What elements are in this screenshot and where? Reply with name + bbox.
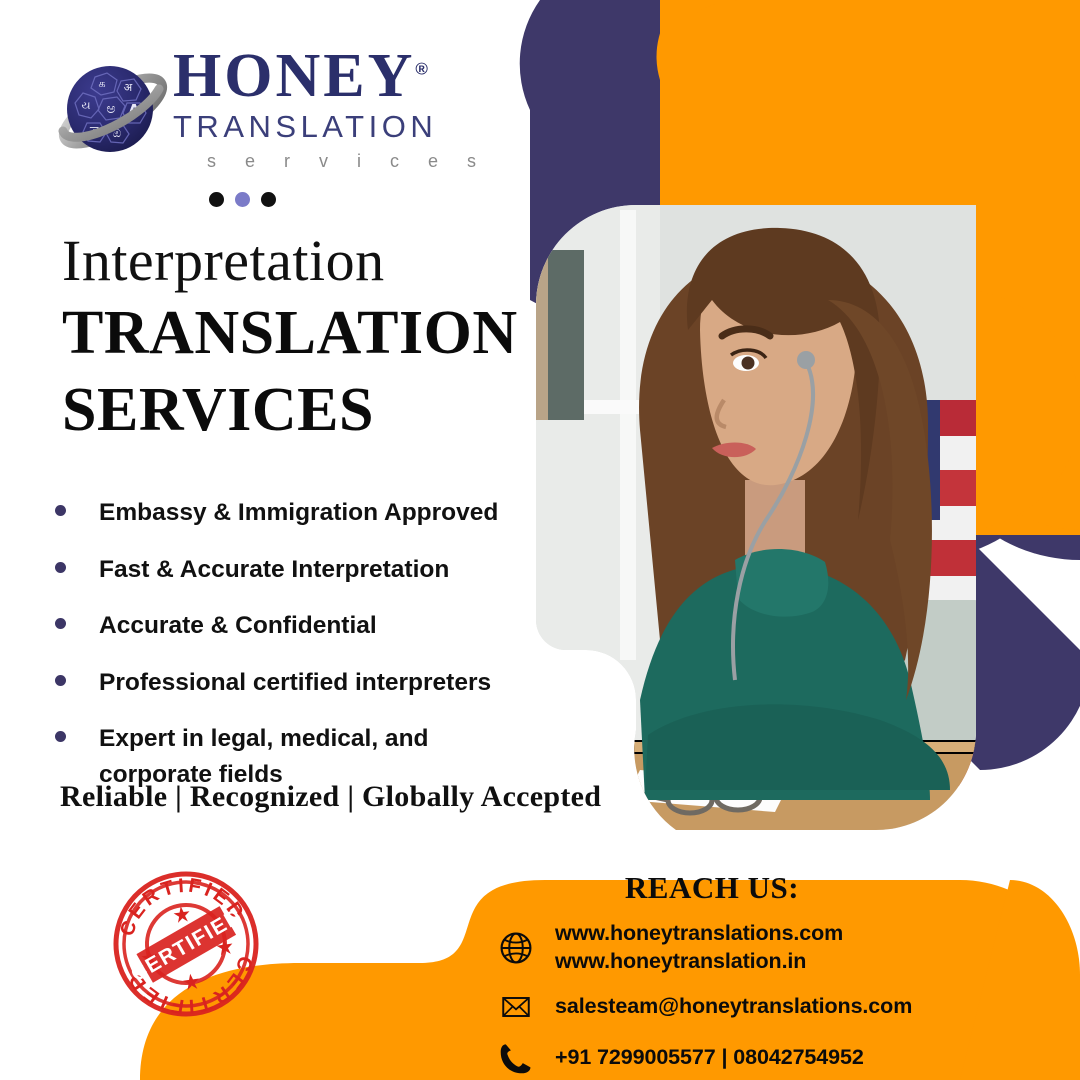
website-1: www.honeytranslations.com xyxy=(555,921,843,945)
feature-label: Fast & Accurate Interpretation xyxy=(99,552,449,588)
svg-text:ય: ય xyxy=(81,99,90,112)
contact-row-phone[interactable]: +91 7299005577 | 08042754952 xyxy=(470,1037,1070,1079)
logo-primary-name: HONEY® xyxy=(173,45,473,107)
orange-top-shape xyxy=(657,0,1080,530)
phone-icon xyxy=(495,1037,537,1079)
list-item: Professional certified interpreters xyxy=(55,665,535,701)
list-item: Embassy & Immigration Approved xyxy=(55,495,535,531)
woman-with-headset-at-desk-photo xyxy=(500,180,1020,860)
email-label: salesteam@honeytranslations.com xyxy=(555,993,912,1021)
dot-1 xyxy=(209,192,224,207)
svg-text:अ: अ xyxy=(124,81,133,94)
bullet-dot-icon xyxy=(55,505,66,516)
website-2: www.honeytranslation.in xyxy=(555,949,806,973)
feature-label: Accurate & Confidential xyxy=(99,608,377,644)
list-item: Accurate & Confidential xyxy=(55,608,535,644)
globe-languages-icon: க अ ય ಅ A ア ඔ xyxy=(55,53,171,169)
tagline: Reliable | Recognized | Globally Accepte… xyxy=(60,780,601,814)
bullet-dot-icon xyxy=(55,618,66,629)
certified-stamp-icon: CERTIFIED CERTIFIED CERTIFIED xyxy=(106,868,266,1020)
list-item: Fast & Accurate Interpretation xyxy=(55,552,535,588)
bullet-dot-icon xyxy=(55,562,66,573)
purple-ribbon-shape xyxy=(520,0,1080,575)
phone-label: +91 7299005577 | 08042754952 xyxy=(555,1044,864,1072)
headline-main-line-1: TRANSLATION xyxy=(62,300,532,367)
headline-main-line-2: SERVICES xyxy=(62,377,532,444)
contact-row-email[interactable]: salesteam@honeytranslations.com xyxy=(470,986,1070,1028)
decorative-dots xyxy=(209,192,276,207)
contact-section-title: REACH US: xyxy=(482,870,942,906)
contact-section: REACH US: www.honeytranslations.com www.… xyxy=(470,870,1070,1079)
svg-text:ಅ: ಅ xyxy=(106,101,115,117)
feature-list: Embassy & Immigration Approved Fast & Ac… xyxy=(55,495,535,813)
bullet-dot-icon xyxy=(55,731,66,742)
logo-secondary-name: TRANSLATION xyxy=(173,109,473,145)
page-title: Interpretation TRANSLATION SERVICES xyxy=(62,232,532,444)
dot-3 xyxy=(261,192,276,207)
headline-script-line: Interpretation xyxy=(62,232,532,290)
logo-tertiary-name: s e r v i c e s xyxy=(173,151,473,172)
contact-row-website[interactable]: www.honeytranslations.com www.honeytrans… xyxy=(470,920,1070,975)
website-labels: www.honeytranslations.com www.honeytrans… xyxy=(555,920,843,975)
dot-2 xyxy=(235,192,250,207)
globe-icon xyxy=(495,927,537,969)
brand-logo[interactable]: க अ ય ಅ A ア ඔ HONEY® TRANSLATION s e r v… xyxy=(55,45,475,180)
svg-text:க: க xyxy=(98,77,105,90)
bullet-dot-icon xyxy=(55,675,66,686)
envelope-icon xyxy=(495,986,537,1028)
registered-trademark-mark: ® xyxy=(415,59,428,78)
promotional-poster: க अ ય ಅ A ア ඔ HONEY® TRANSLATION s e r v… xyxy=(0,0,1080,1080)
feature-label: Professional certified interpreters xyxy=(99,665,491,701)
feature-label: Embassy & Immigration Approved xyxy=(99,495,498,531)
